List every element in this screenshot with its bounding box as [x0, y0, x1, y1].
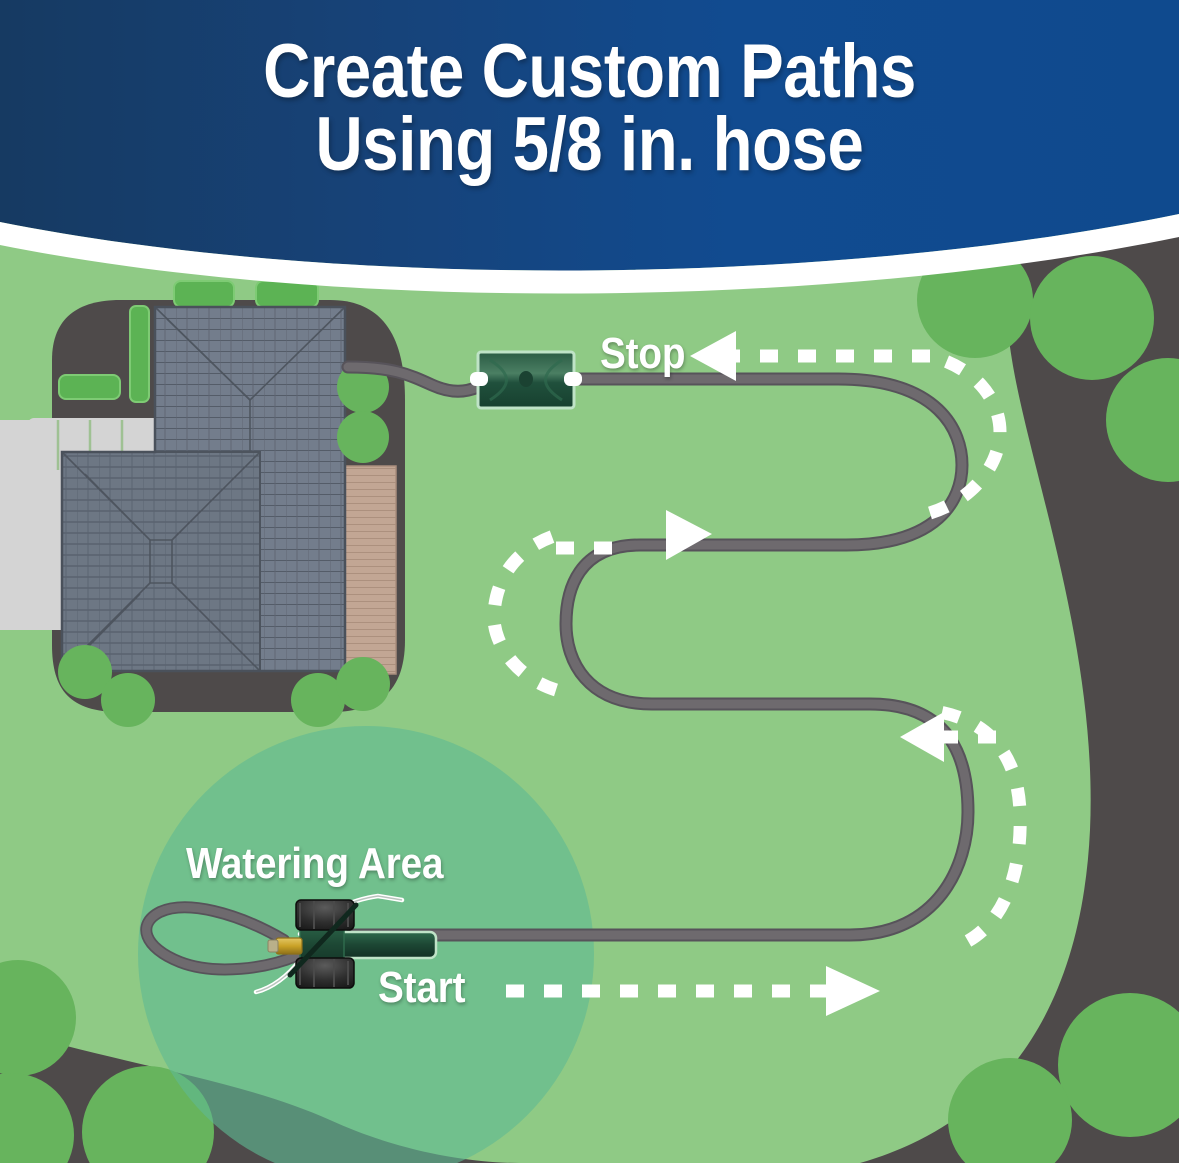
hedge: [130, 306, 149, 402]
hedge: [59, 375, 120, 399]
shrub: [101, 673, 155, 727]
roof-lower: [62, 452, 260, 671]
infographic-root: Create Custom Paths Using 5/8 in. hose S…: [0, 0, 1179, 1163]
header-banner: [0, 0, 1179, 294]
sprinkler-brass-fitting: [268, 938, 302, 954]
sprinkler-tail: [338, 932, 436, 958]
shrub: [337, 411, 389, 463]
shrub: [336, 657, 390, 711]
hedge: [256, 281, 318, 307]
deck: [344, 466, 396, 674]
hedge: [174, 281, 234, 307]
yard-diagram: [0, 0, 1179, 1163]
house-group: [0, 281, 405, 727]
tree: [1030, 256, 1154, 380]
hose-stop-connector[interactable]: [470, 352, 582, 408]
